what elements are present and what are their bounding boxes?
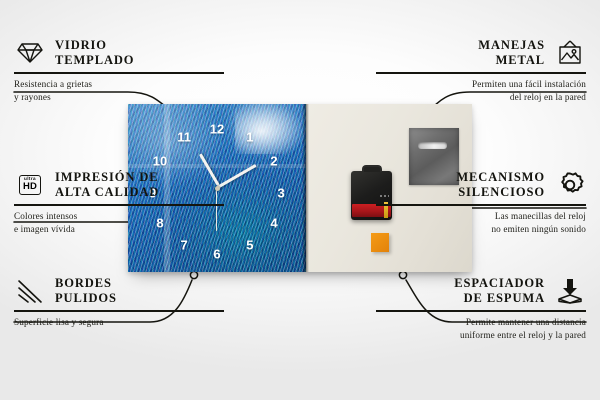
feature-title-line2: TEMPLADO <box>55 53 134 68</box>
feature-title-line2: PULIDOS <box>55 291 117 306</box>
feature-rule <box>376 310 586 312</box>
feature-title-line1: BORDES <box>55 276 117 291</box>
feature-desc-line1: Permiten una fácil instalación <box>376 78 586 91</box>
clock-numeral: 1 <box>246 130 253 143</box>
clock-numeral: 7 <box>180 239 187 252</box>
foam-spacer-icon <box>554 276 586 306</box>
clock-numeral: 3 <box>277 187 284 200</box>
feature-bordes-pulidos: BORDES PULIDOS Superficie lisa y segura <box>14 276 224 329</box>
feature-desc-line1: Las manecillas del reloj <box>376 210 586 223</box>
feature-desc-line1: Permite mantener una distancia <box>376 316 586 329</box>
clock-numeral: 10 <box>153 155 167 168</box>
feature-title-line1: ESPACIADOR <box>454 276 545 291</box>
feature-espaciador-espuma: ESPACIADOR DE ESPUMA Permite mantener un… <box>376 276 586 342</box>
clock-numeral: 11 <box>177 130 191 143</box>
feature-rule <box>14 204 224 206</box>
ultra-hd-icon-main: HD <box>23 182 37 192</box>
diamond-icon <box>14 38 46 68</box>
clock-numeral: 5 <box>246 239 253 252</box>
foam-spacer <box>371 233 389 251</box>
feature-desc-line2: uniforme entre el reloj y la pared <box>376 329 586 342</box>
feature-vidrio-templado: VIDRIO TEMPLADO Resistencia a grietas y … <box>14 38 224 104</box>
feature-mecanismo-silencioso: MECANISMO SILENCIOSO Las manecillas del … <box>376 170 586 236</box>
feature-rule <box>14 72 224 74</box>
clock-numeral: 6 <box>213 247 220 260</box>
feature-title-line1: MANEJAS <box>478 38 545 53</box>
feature-manejas-metal: MANEJAS METAL Permiten una fácil instala… <box>376 38 586 104</box>
feature-desc-line2: no emiten ningún sonido <box>376 223 586 236</box>
feature-rule <box>376 72 586 74</box>
feature-rule <box>376 204 586 206</box>
clock-numeral: 4 <box>270 217 277 230</box>
feature-desc-line1: Superficie lisa y segura <box>14 316 224 329</box>
clock-numeral: 2 <box>270 155 277 168</box>
feature-desc-line2: del reloj en la pared <box>376 91 586 104</box>
hanging-frame-icon <box>554 38 586 68</box>
feature-desc-line2: y rayones <box>14 91 224 104</box>
feature-title-line1: MECANISMO <box>456 170 545 185</box>
board-edge-shadow <box>306 104 309 272</box>
feature-desc-line1: Resistencia a grietas <box>14 78 224 91</box>
ultra-hd-icon: ultra HD <box>14 170 46 200</box>
feature-title-line1: VIDRIO <box>55 38 134 53</box>
feature-title-line2: SILENCIOSO <box>456 185 545 200</box>
infographic-canvas: 12 1 2 3 4 5 6 7 8 9 10 11 <box>0 0 600 400</box>
feature-desc-line2: e imagen vívida <box>14 223 224 236</box>
feature-rule <box>14 310 224 312</box>
feature-impresion-alta-calidad: ultra HD IMPRESIÓN DE ALTA CALIDAD Color… <box>14 170 224 236</box>
gear-icon <box>554 170 586 200</box>
feature-desc-line1: Colores intensos <box>14 210 224 223</box>
hanger-slot <box>418 142 447 148</box>
feature-title-line2: DE ESPUMA <box>454 291 545 306</box>
feature-title-line2: METAL <box>478 53 545 68</box>
polished-edges-icon <box>14 276 46 306</box>
clock-numeral: 12 <box>210 123 224 136</box>
feature-title-line1: IMPRESIÓN DE <box>55 170 159 185</box>
feature-title-line2: ALTA CALIDAD <box>55 185 159 200</box>
